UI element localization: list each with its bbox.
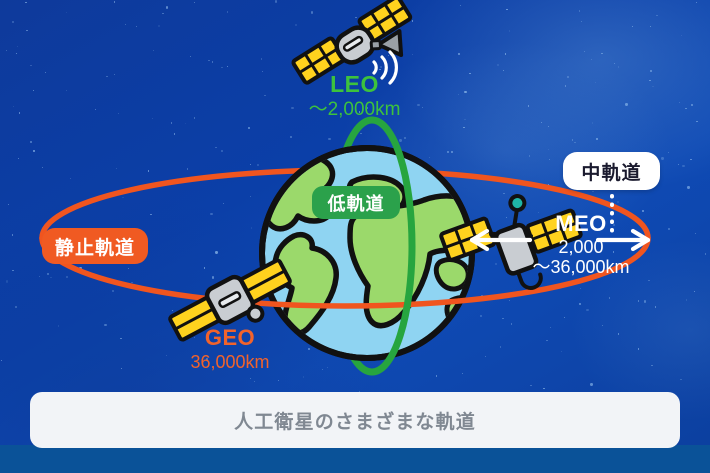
caption-bar: 人工衛星のさまざまな軌道 — [30, 392, 680, 448]
label-meo-distance-line1: 2,000 — [531, 237, 631, 257]
badge-medium-earth-orbit[interactable]: 中軌道 — [563, 152, 660, 190]
caption-text: 人工衛星のさまざまな軌道 — [234, 407, 476, 434]
badge-low-earth-orbit[interactable]: 低軌道 — [312, 186, 400, 219]
label-geo-acronym: GEO — [170, 326, 290, 351]
label-meo-acronym: MEO — [531, 212, 631, 237]
badge-low-earth-label: 低軌道 — [328, 190, 385, 216]
badge-medium-earth-label: 中軌道 — [581, 158, 641, 185]
label-leo: LEO 〜2,000km — [292, 72, 417, 120]
label-geo: GEO 36,000km — [170, 326, 290, 372]
label-geo-distance: 36,000km — [170, 352, 290, 372]
badge-geostationary-orbit[interactable]: 静止軌道 — [42, 228, 148, 264]
label-meo: MEO 2,000 〜36,000km — [531, 212, 631, 277]
footer-band — [0, 445, 710, 473]
label-meo-distance-line2: 〜36,000km — [531, 257, 631, 277]
label-leo-distance: 〜2,000km — [292, 99, 417, 120]
label-leo-acronym: LEO — [292, 72, 417, 98]
infographic-canvas: 静止軌道 低軌道 中軌道 LEO 〜2,000km GEO 36,000km M… — [0, 0, 710, 473]
badge-geostationary-label: 静止軌道 — [55, 233, 135, 260]
